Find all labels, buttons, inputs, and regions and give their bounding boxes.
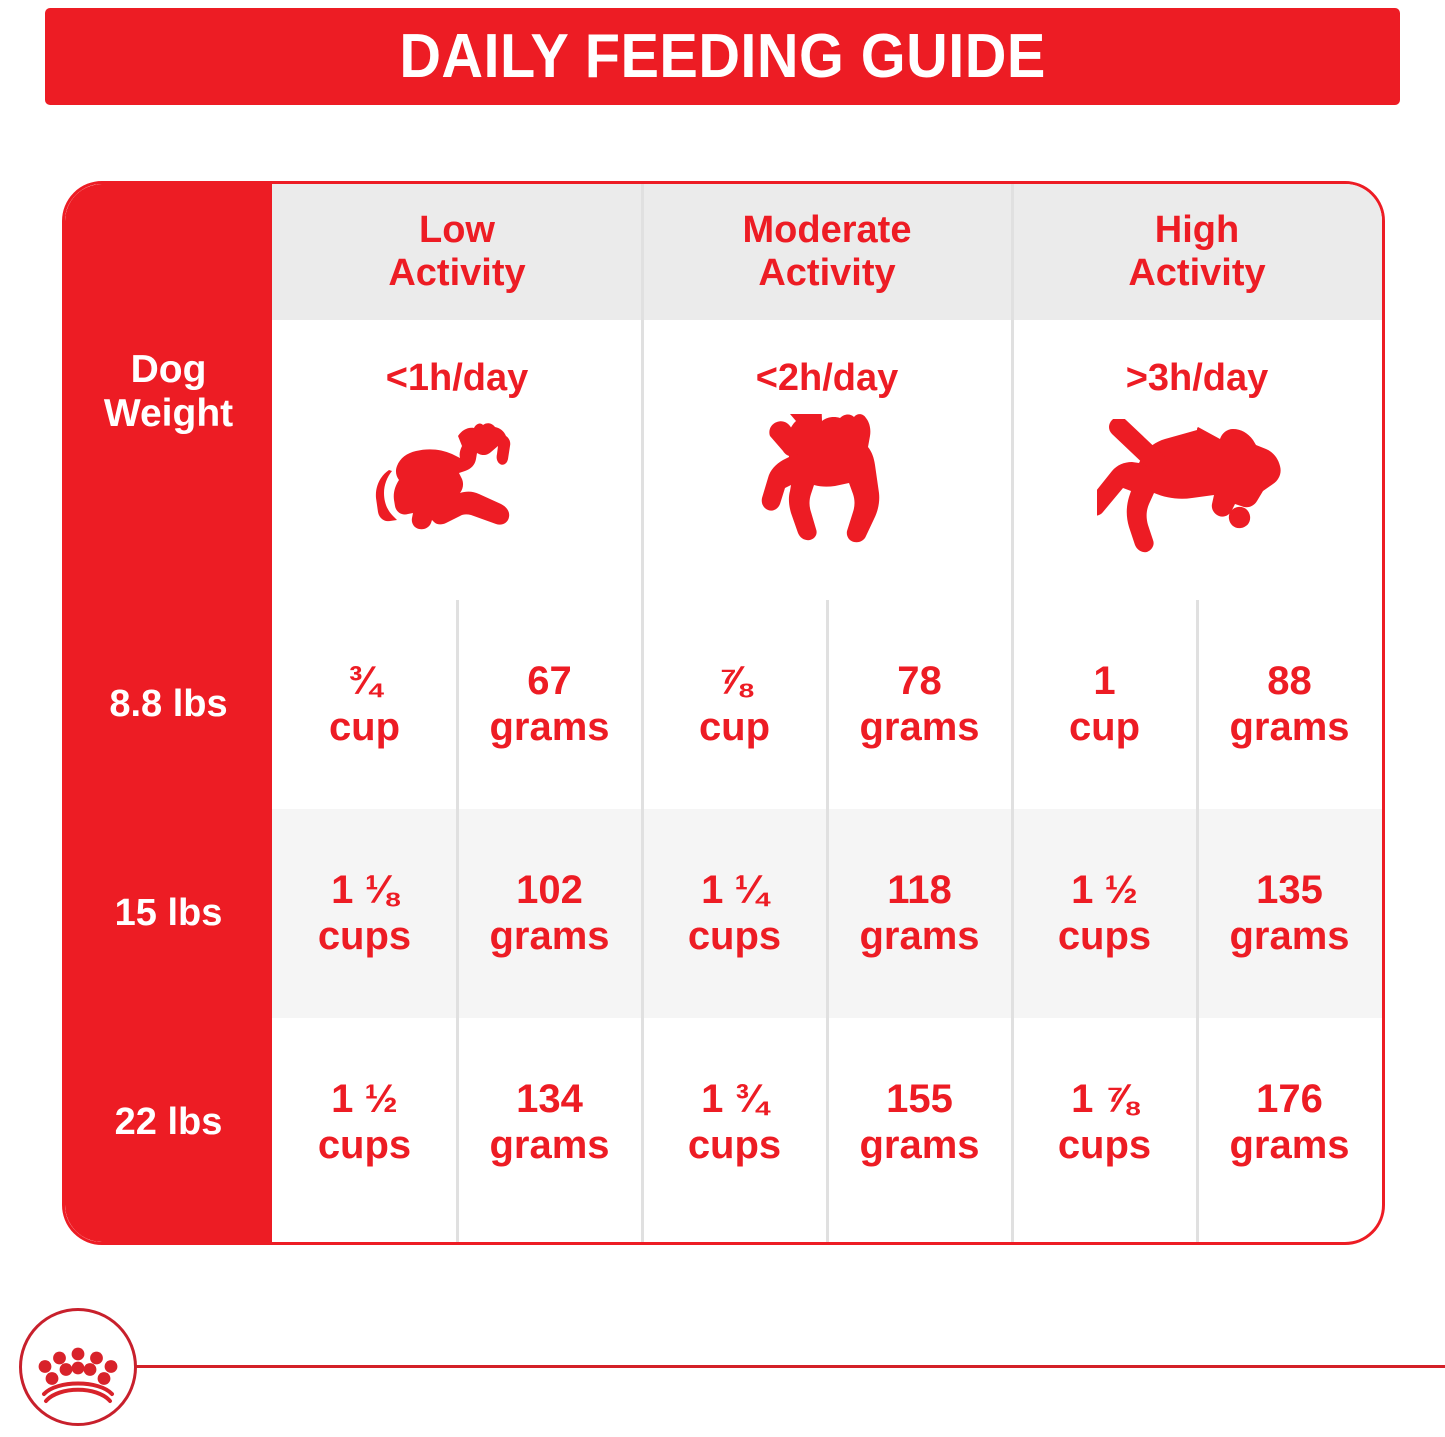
cell-r1-low-cups: 1 ⅛ cups <box>272 809 457 1018</box>
unit: grams <box>1229 1123 1349 1169</box>
unit: cups <box>1058 914 1151 960</box>
cell-r1-moderate-grams: 118 grams <box>827 809 1012 1018</box>
unit: cups <box>688 1123 781 1169</box>
cell-r1-high-grams: 135 grams <box>1197 809 1382 1018</box>
cell-r2-high-cups: 1 ⅞ cups <box>1012 1018 1197 1227</box>
activity-hours-high: >3h/day <box>1126 357 1269 400</box>
unit: cups <box>318 914 411 960</box>
footer-rule <box>120 1365 1445 1368</box>
page-title: DAILY FEEDING GUIDE <box>399 26 1045 88</box>
dog-lying-icon <box>362 414 552 564</box>
cell-r2-low-grams: 134 grams <box>457 1018 642 1227</box>
amount: 134 <box>516 1077 583 1123</box>
amount: 1 ¾ <box>701 1077 768 1123</box>
cell-r0-high-cups: 1 cup <box>1012 600 1197 809</box>
amount: 1 <box>1093 659 1115 705</box>
amount: 102 <box>516 868 583 914</box>
royal-canin-crown-logo <box>19 1308 137 1426</box>
cell-r0-low-cups: ¾ cup <box>272 600 457 809</box>
amount: ⅞ <box>718 659 751 705</box>
amount: 67 <box>527 659 572 705</box>
dog-weight-header: Dog Weight <box>65 184 272 600</box>
activity-icon-cell-high: >3h/day <box>1012 320 1382 600</box>
activity-hours-moderate: <2h/day <box>756 357 899 400</box>
activity-title-high-line2: Activity <box>1128 252 1265 295</box>
cell-r0-low-grams: 67 grams <box>457 600 642 809</box>
cell-r1-high-cups: 1 ½ cups <box>1012 809 1197 1018</box>
unit: grams <box>489 1123 609 1169</box>
activity-title-low-line1: Low <box>419 209 495 252</box>
unit: cups <box>1058 1123 1151 1169</box>
unit: grams <box>859 914 979 960</box>
activity-icon-row: <1h/day <2h/day >3h/da <box>272 320 1382 600</box>
cell-r1-moderate-cups: 1 ¼ cups <box>642 809 827 1018</box>
table-row: 1 ½ cups 134 grams 1 ¾ cups 155 grams 1 … <box>272 1018 1382 1227</box>
header-banner: DAILY FEEDING GUIDE <box>45 8 1400 105</box>
amount: 1 ½ <box>331 1077 398 1123</box>
cell-r2-low-cups: 1 ½ cups <box>272 1018 457 1227</box>
amount: ¾ <box>348 659 381 705</box>
activity-header-moderate: Moderate Activity <box>642 184 1012 320</box>
amount: 1 ½ <box>1071 868 1138 914</box>
weight-label-row-2: 22 lbs <box>65 1018 272 1227</box>
activity-header-low: Low Activity <box>272 184 642 320</box>
dog-standing-icon <box>750 414 905 564</box>
unit: grams <box>489 705 609 751</box>
unit: grams <box>1229 705 1349 751</box>
activity-title-row: Low Activity Moderate Activity High Acti… <box>272 184 1382 320</box>
activity-title-low-line2: Activity <box>388 252 525 295</box>
feeding-guide-table: Dog Weight 8.8 lbs 15 lbs 22 lbs Low Act… <box>62 181 1385 1245</box>
cell-r0-moderate-grams: 78 grams <box>827 600 1012 809</box>
amount: 1 ⅞ <box>1071 1077 1138 1123</box>
cell-r0-moderate-cups: ⅞ cup <box>642 600 827 809</box>
activity-icon-cell-moderate: <2h/day <box>642 320 1012 600</box>
unit: grams <box>859 1123 979 1169</box>
activity-header-high: High Activity <box>1012 184 1382 320</box>
amount: 155 <box>886 1077 953 1123</box>
table-row: 1 ⅛ cups 102 grams 1 ¼ cups 118 grams 1 … <box>272 809 1382 1018</box>
amount: 1 ⅛ <box>331 868 398 914</box>
amount: 88 <box>1267 659 1312 705</box>
amount: 78 <box>897 659 942 705</box>
weight-label-row-0: 8.8 lbs <box>65 600 272 809</box>
activity-grid: Low Activity Moderate Activity High Acti… <box>272 184 1382 1242</box>
dog-running-icon <box>1097 414 1297 564</box>
unit: cups <box>318 1123 411 1169</box>
cell-r2-moderate-grams: 155 grams <box>827 1018 1012 1227</box>
unit: grams <box>1229 914 1349 960</box>
activity-title-moderate-line1: Moderate <box>743 209 912 252</box>
cell-r2-high-grams: 176 grams <box>1197 1018 1382 1227</box>
amount: 1 ¼ <box>701 868 768 914</box>
cell-r2-moderate-cups: 1 ¾ cups <box>642 1018 827 1227</box>
amount: 118 <box>887 868 952 914</box>
unit: grams <box>859 705 979 751</box>
unit: cup <box>699 705 770 751</box>
cell-r1-low-grams: 102 grams <box>457 809 642 1018</box>
table-bottom-spacer <box>272 1227 1382 1242</box>
table-row: ¾ cup 67 grams ⅞ cup 78 grams 1 cup 88 g… <box>272 600 1382 809</box>
activity-title-high-line1: High <box>1155 209 1239 252</box>
unit: grams <box>489 914 609 960</box>
unit: cups <box>688 914 781 960</box>
amount: 176 <box>1256 1077 1323 1123</box>
activity-icon-cell-low: <1h/day <box>272 320 642 600</box>
cell-r0-high-grams: 88 grams <box>1197 600 1382 809</box>
activity-hours-low: <1h/day <box>386 357 529 400</box>
activity-title-moderate-line2: Activity <box>758 252 895 295</box>
amount: 135 <box>1256 868 1323 914</box>
weight-label-row-1: 15 lbs <box>65 809 272 1018</box>
unit: cup <box>329 705 400 751</box>
unit: cup <box>1069 705 1140 751</box>
footer <box>0 1302 1445 1437</box>
dog-weight-column: Dog Weight 8.8 lbs 15 lbs 22 lbs <box>65 184 272 1242</box>
